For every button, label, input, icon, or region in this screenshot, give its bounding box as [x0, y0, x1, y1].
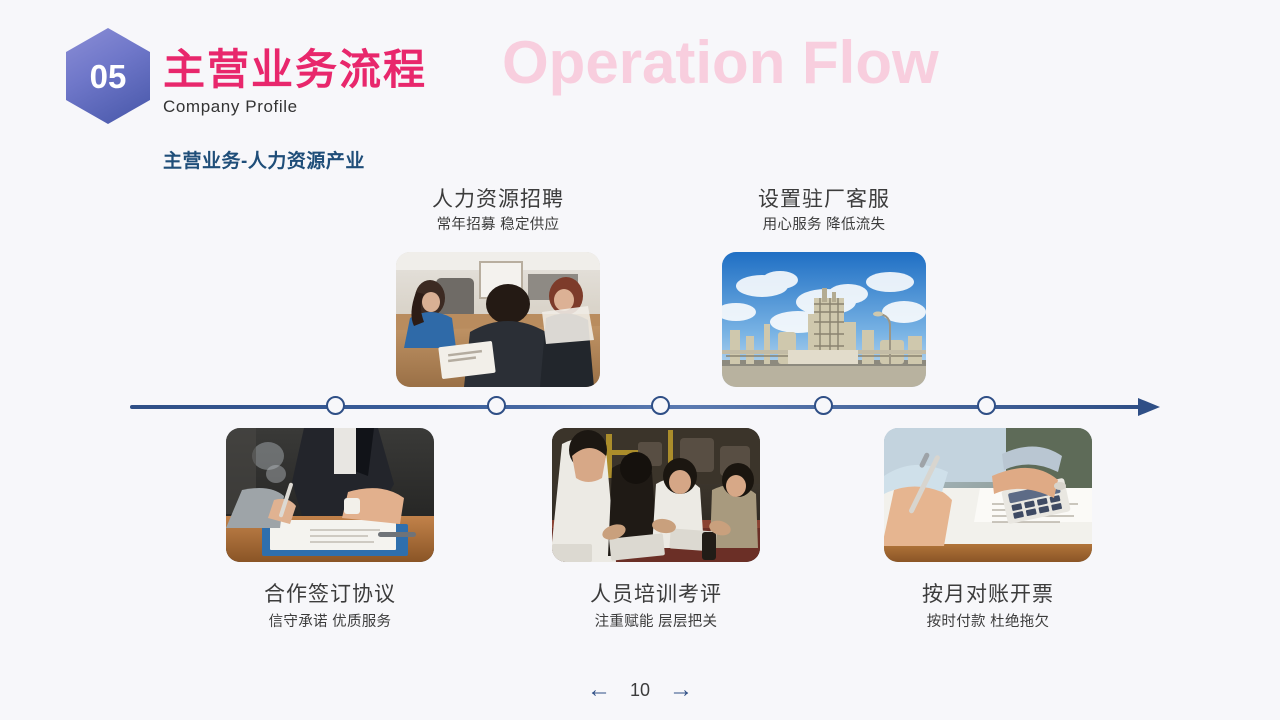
slide-pager: ← 10 →	[0, 672, 1280, 708]
timeline-axis	[0, 392, 1280, 424]
contract-signing-photo	[226, 428, 434, 562]
step-desc-recruitment: 常年招募 稳定供应	[396, 213, 600, 234]
photo-interview-meeting	[396, 252, 600, 387]
timeline-dot-1[interactable]	[326, 396, 345, 415]
step-title-onsite-service: 设置驻厂客服	[722, 183, 926, 213]
arrow-right-icon	[1138, 398, 1160, 416]
prev-page-icon[interactable]: ←	[587, 678, 611, 702]
step-title-agreement: 合作签订协议	[226, 578, 434, 608]
slide-header: 05 主营业务流程 Company Profile Operation Flow	[0, 0, 1280, 140]
photo-contract-signing	[226, 428, 434, 562]
timeline-dot-3[interactable]	[651, 396, 670, 415]
page-title-chinese: 主营业务流程	[163, 36, 427, 97]
step-desc-onsite-service: 用心服务 降低流失	[722, 213, 926, 234]
photo-invoice-accounting	[884, 428, 1092, 562]
interview-meeting-photo	[396, 252, 600, 387]
section-number-text: 05	[90, 60, 127, 93]
step-desc-agreement: 信守承诺 优质服务	[226, 610, 434, 631]
page-number: 10	[629, 680, 651, 701]
step-desc-training: 注重赋能 层层把关	[552, 610, 760, 631]
slide-canvas: 05 主营业务流程 Company Profile Operation Flow…	[0, 0, 1280, 720]
section-number-badge: 05	[66, 28, 150, 124]
page-subtitle-english: Company Profile	[163, 97, 298, 117]
timeline-dot-2[interactable]	[487, 396, 506, 415]
step-title-recruitment: 人力资源招聘	[396, 183, 600, 213]
timeline-dot-4[interactable]	[814, 396, 833, 415]
section-subtitle: 主营业务-人力资源产业	[163, 146, 365, 173]
invoice-accounting-photo	[884, 428, 1092, 562]
next-page-icon[interactable]: →	[669, 678, 693, 702]
photo-staff-training	[552, 428, 760, 562]
step-title-training: 人员培训考评	[552, 578, 760, 608]
industrial-plant-photo	[722, 252, 926, 387]
timeline-dot-5[interactable]	[977, 396, 996, 415]
step-title-invoicing: 按月对账开票	[884, 578, 1092, 608]
step-desc-invoicing: 按时付款 杜绝拖欠	[884, 610, 1092, 631]
photo-industrial-plant	[722, 252, 926, 387]
staff-training-photo	[552, 428, 760, 562]
page-title-english: Operation Flow	[502, 28, 939, 97]
